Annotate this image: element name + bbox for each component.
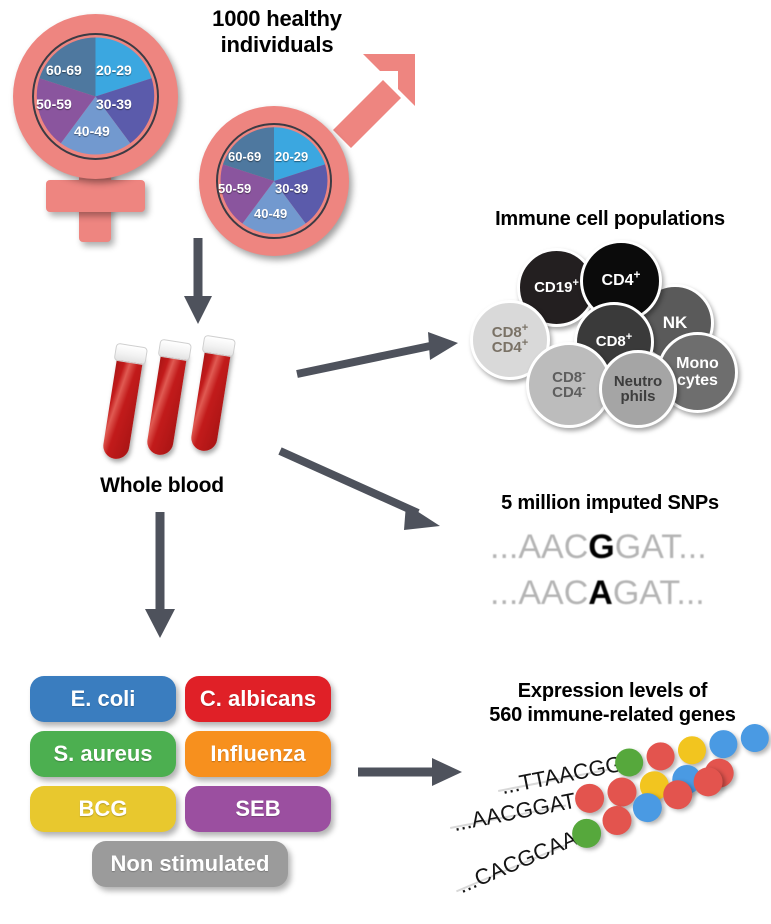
snp-variant-2: A: [588, 574, 613, 612]
immune-cell-nk-label: NK: [663, 314, 688, 331]
immune-cell-cluster: CD19+ NK CD4+ CD8+CD4+ CD8+ Monocytes CD…: [470, 240, 760, 430]
snp-sequence-row: ...AACGGAT...: [490, 528, 707, 567]
stimulus-non-stimulated-label: Non stimulated: [111, 851, 270, 877]
snps-title: 5 million imputed SNPs: [455, 492, 765, 516]
stimulus-seb-label: SEB: [235, 796, 280, 822]
immune-cell-cd4-label: CD4+: [602, 273, 641, 289]
female-age-pie-svg: [34, 35, 157, 158]
immune-cell-neutrophils-label: Neutrophils: [614, 374, 662, 405]
stimulus-non-stimulated[interactable]: Non stimulated: [92, 841, 288, 887]
snp-variant-1: G: [588, 528, 614, 566]
expression-strands: ...TTAACGG ...AACGGAT ...CACGCAA: [450, 740, 771, 920]
stimulus-c-albicans-label: C. albicans: [200, 686, 316, 712]
arrow-blood-to-snps: [278, 448, 453, 538]
stimulus-bcg-label: BCG: [79, 796, 128, 822]
blood-tube-body: [145, 348, 187, 457]
blood-tube-body: [189, 344, 231, 453]
whole-blood-label: Whole blood: [72, 474, 252, 499]
cohort-title-line-1: 1000 healthy: [172, 6, 382, 32]
expression-title-line-2: 560 immune-related genes: [455, 704, 770, 728]
stimulus-e-coli-label: E. coli: [71, 686, 136, 712]
arrow-blood-to-immune-svg: [295, 330, 465, 380]
expression-bead: [573, 781, 607, 815]
snp-sequence-row: ...AACAGAT...: [490, 574, 705, 613]
stimulus-c-albicans[interactable]: C. albicans: [185, 676, 331, 722]
snp-suffix-1: GAT...: [615, 528, 707, 566]
stimulus-bcg[interactable]: BCG: [30, 786, 176, 832]
stimulus-seb[interactable]: SEB: [185, 786, 331, 832]
stimulus-s-aureus[interactable]: S. aureus: [30, 731, 176, 777]
arrow-cohort-to-blood-svg: [178, 238, 218, 328]
immune-cell-cd19-label: CD19+: [534, 280, 579, 295]
male-age-pie: 20-29 30-39 40-49 50-59 60-69: [216, 123, 332, 239]
stimulus-s-aureus-label: S. aureus: [53, 741, 152, 767]
snp-suffix-2: GAT...: [613, 574, 705, 612]
female-age-pie: 20-29 30-39 40-49 50-59 60-69: [32, 33, 159, 160]
immune-cell-neutrophils: Neutrophils: [599, 350, 677, 428]
female-symbol: 20-29 30-39 40-49 50-59 60-69: [8, 12, 183, 242]
female-symbol-stem-cross: [46, 180, 145, 212]
immune-title: Immune cell populations: [450, 208, 770, 232]
arrow-blood-to-snps-svg: [278, 448, 453, 538]
arrow-blood-to-stimuli: [140, 512, 180, 642]
male-symbol: 20-29 30-39 40-49 50-59 60-69: [197, 78, 427, 248]
arrow-blood-to-immune: [295, 330, 465, 380]
stimuli-panel: E. coli C. albicans S. aureus Influenza …: [30, 676, 350, 896]
stimulus-influenza[interactable]: Influenza: [185, 731, 331, 777]
expression-title-line-1: Expression levels of: [455, 680, 770, 704]
arrow-blood-to-stimuli-svg: [140, 512, 180, 642]
immune-cell-cd8-cd4-double-neg-label: CD8-CD4-: [552, 370, 586, 401]
immune-cell-cd8-cd4-double-pos-label: CD8+CD4+: [492, 325, 529, 356]
immune-cell-cd8-label: CD8+: [596, 334, 633, 349]
whole-blood-tubes: [110, 340, 270, 470]
blood-tube-body: [101, 352, 143, 461]
immune-cell-monocytes-label: Monocytes: [676, 356, 719, 389]
stimulus-e-coli[interactable]: E. coli: [30, 676, 176, 722]
arrow-cohort-to-blood: [178, 238, 218, 328]
stimulus-influenza-label: Influenza: [210, 741, 305, 767]
expression-title: Expression levels of 560 immune-related …: [455, 680, 770, 727]
snp-sequence-block: ...AACGGAT... ...AACAGAT...: [490, 528, 740, 623]
snp-prefix-1: ...AAC: [490, 528, 588, 566]
snp-prefix-2: ...AAC: [490, 574, 588, 612]
male-age-pie-svg: [218, 125, 330, 237]
